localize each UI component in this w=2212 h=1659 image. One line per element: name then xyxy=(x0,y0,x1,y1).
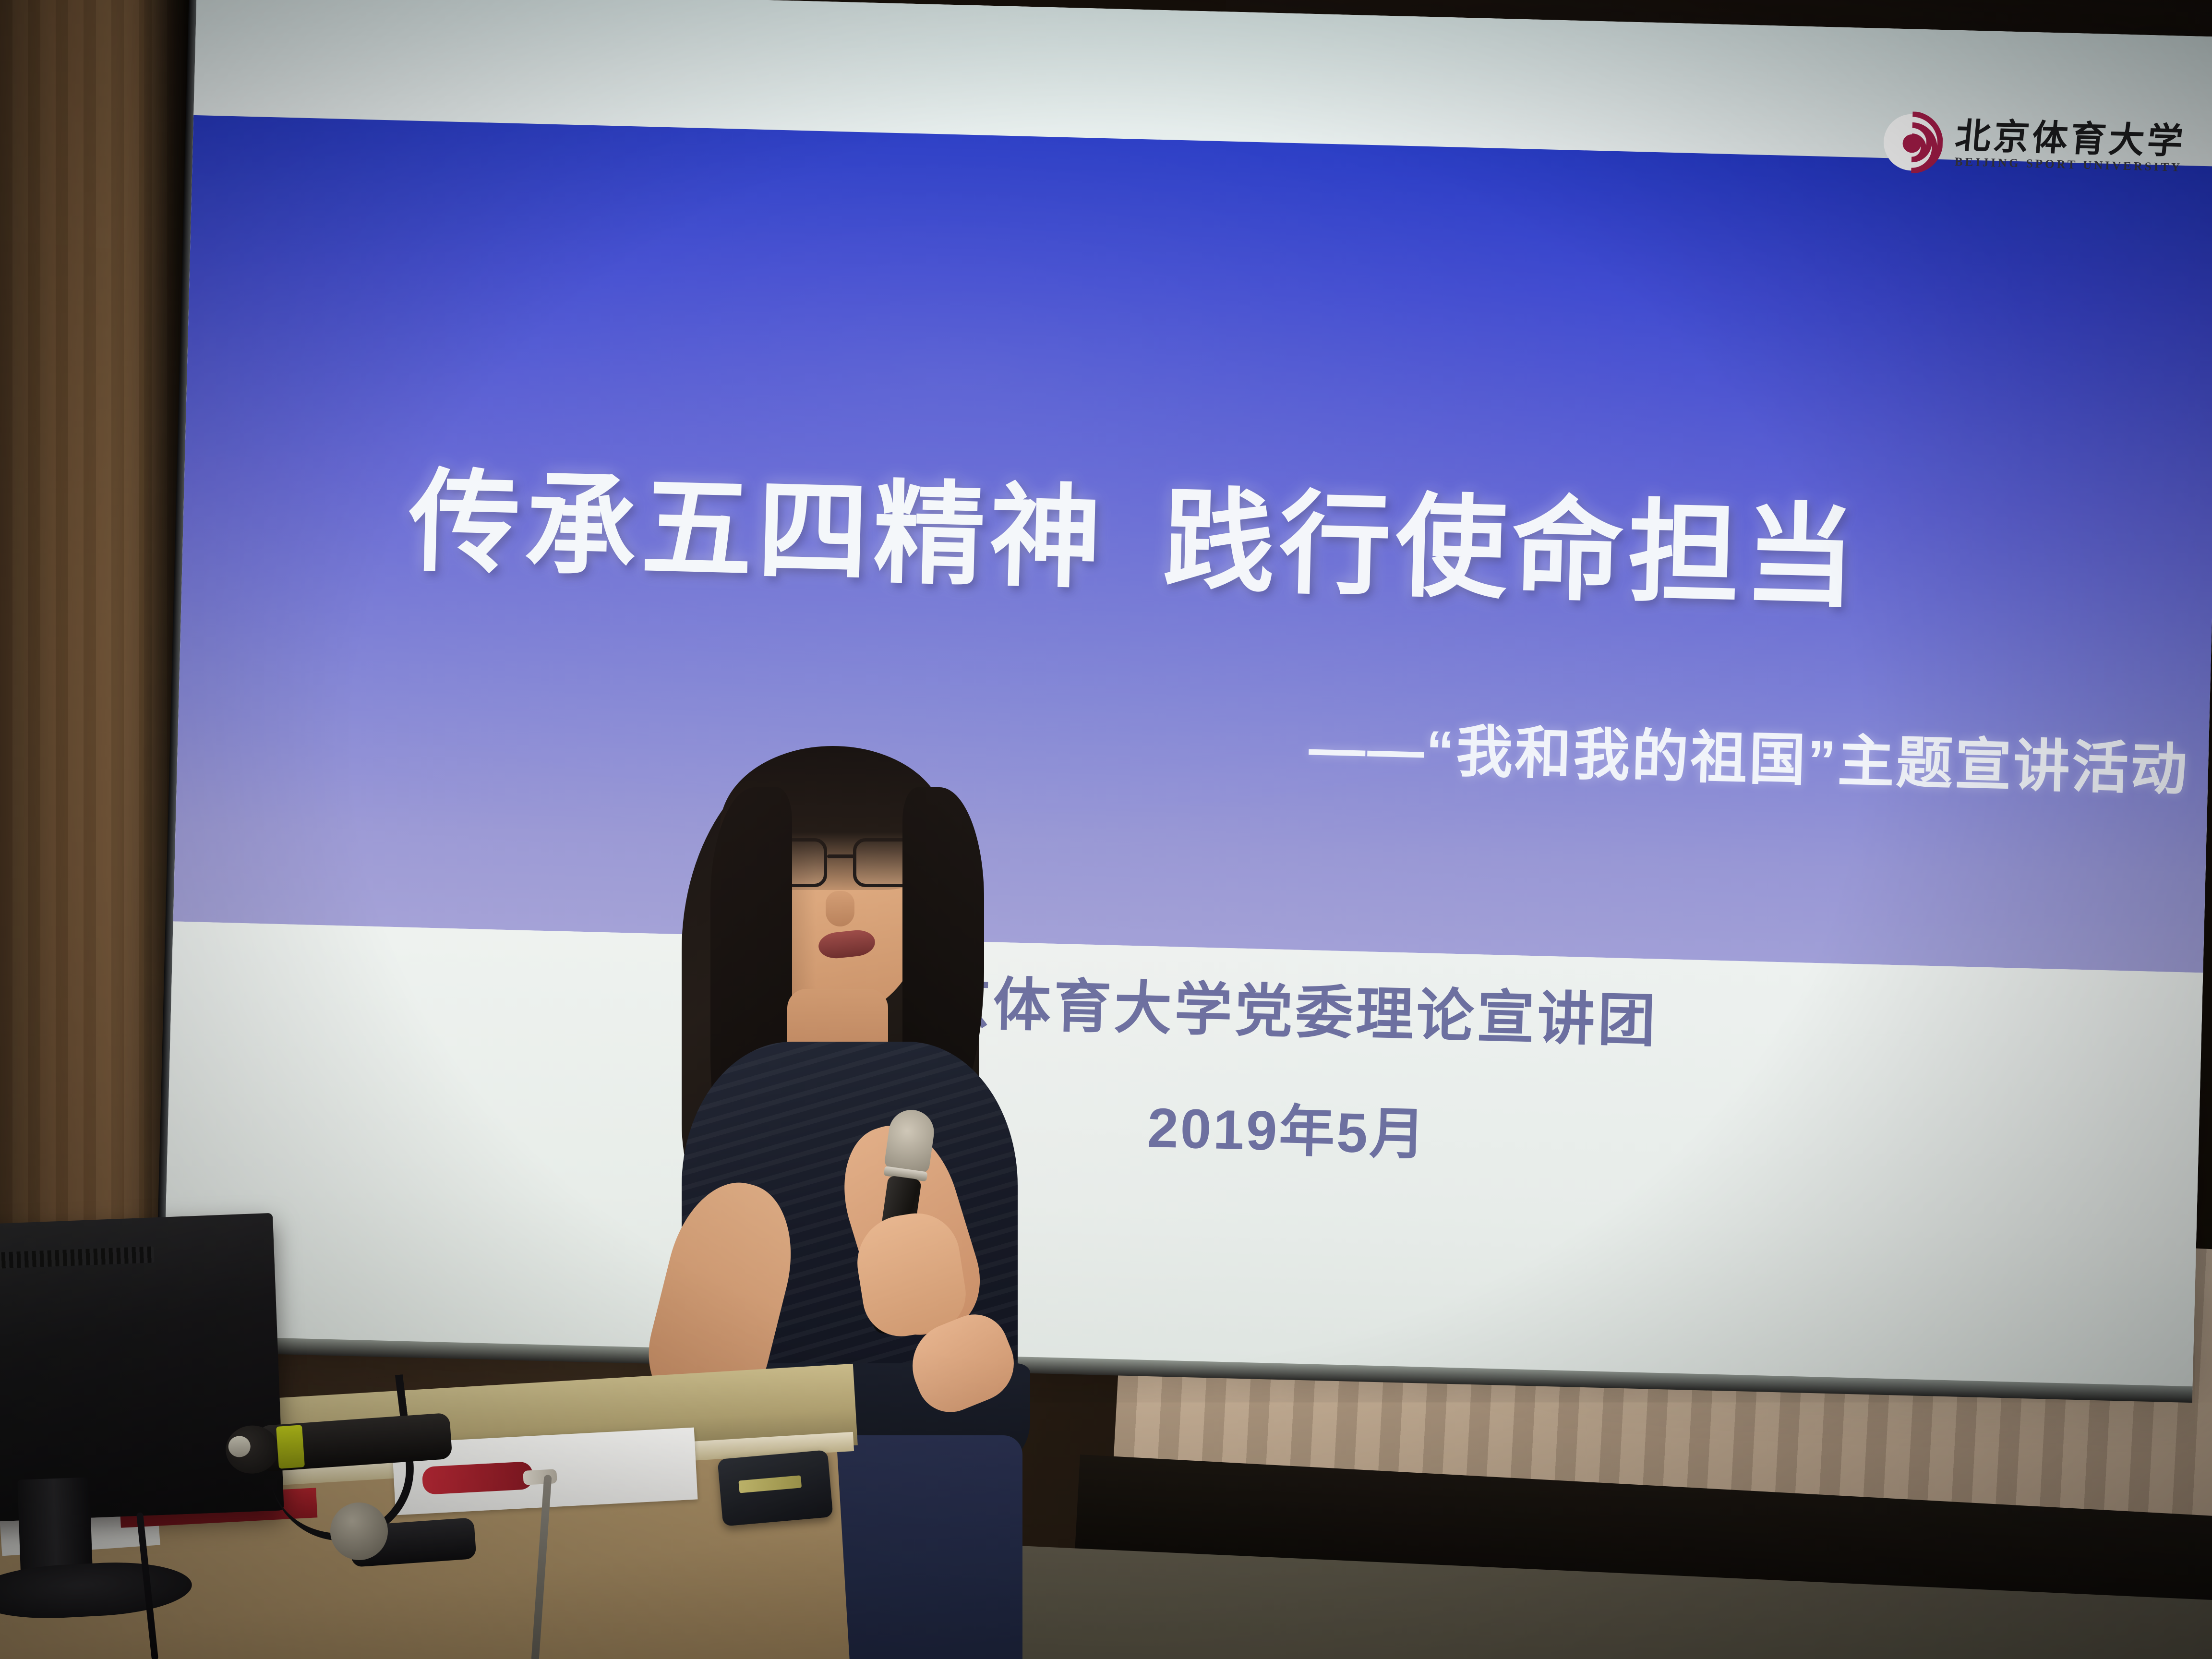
monitor-vent xyxy=(0,1246,155,1270)
nose xyxy=(826,891,854,926)
slide-date: 2019年5月 xyxy=(1147,1100,1428,1163)
university-logo: 北京体育大学 BEIJING SPORT UNIVERSITY xyxy=(1880,111,2186,180)
bsu-swirl-logo-icon xyxy=(1880,111,1943,174)
presentation-slide: 北京体育大学 BEIJING SPORT UNIVERSITY 传承五四精神践行… xyxy=(163,0,2212,1390)
wireless-receiver[interactable] xyxy=(717,1450,833,1527)
gooseneck-capsule xyxy=(330,1503,388,1560)
cable-connector xyxy=(523,1469,557,1485)
mic-grille xyxy=(884,1107,937,1174)
receiver-label xyxy=(738,1475,802,1493)
slide-title-line-2: 践行使命担当 xyxy=(1162,479,1862,621)
projection-screen: 北京体育大学 BEIJING SPORT UNIVERSITY 传承五四精神践行… xyxy=(163,0,2212,1390)
logo-wordmark: 北京体育大学 BEIJING SPORT UNIVERSITY xyxy=(1955,118,2187,175)
logo-name-cn: 北京体育大学 xyxy=(1954,118,2188,159)
spare-mic-yellow-band xyxy=(276,1425,305,1469)
red-cable xyxy=(422,1461,534,1495)
slide-title-line-1: 传承五四精神 xyxy=(408,460,1107,602)
screen-surface: 北京体育大学 BEIJING SPORT UNIVERSITY 传承五四精神践行… xyxy=(163,0,2212,1390)
photo-scene: 北京体育大学 BEIJING SPORT UNIVERSITY 传承五四精神践行… xyxy=(0,0,2212,1659)
